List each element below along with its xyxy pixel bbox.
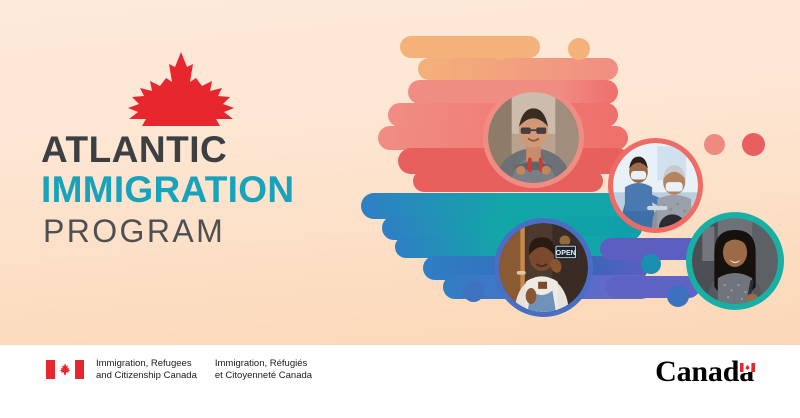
svg-text:OPEN: OPEN xyxy=(556,249,576,257)
ircc-english-line1: Immigration, Refugees xyxy=(96,358,192,369)
logo-line-immigration: IMMIGRATION xyxy=(41,170,338,210)
photo-healthcare-worker-image xyxy=(613,143,698,228)
canada-wordmark-text: Canad xyxy=(655,355,739,388)
photo-healthcare-worker xyxy=(608,138,703,233)
photo-shop-owner: OPEN xyxy=(494,218,593,317)
ircc-english-line2: and Citizenship Canada xyxy=(96,370,197,381)
ircc-label-french: Immigration, Réfugiés et Citoyenneté Can… xyxy=(215,358,312,381)
ircc-french-line1: Immigration, Réfugiés xyxy=(215,358,307,369)
canada-flag-icon xyxy=(46,360,84,379)
photo-student xyxy=(686,212,784,310)
canada-flag-icon xyxy=(740,348,755,357)
salmon-dot-1 xyxy=(704,134,725,155)
photo-student-image xyxy=(692,218,778,304)
photo-tradesman-image xyxy=(488,92,579,183)
blue-dot-2 xyxy=(667,285,689,307)
teal-dot-1 xyxy=(641,254,661,274)
orange-dot-2 xyxy=(568,38,590,60)
program-logo-lockup: ATLANTIC IMMIGRATION PROGRAM xyxy=(38,50,338,250)
ircc-label-english: Immigration, Refugees and Citizenship Ca… xyxy=(96,358,197,381)
photo-tradesman xyxy=(483,87,584,188)
orange-dot-1 xyxy=(489,38,511,60)
peach-bar-2 xyxy=(418,58,618,80)
hero-area: OPEN xyxy=(0,0,800,345)
logo-line-program: PROGRAM xyxy=(43,212,338,250)
blue-dot-1 xyxy=(463,281,484,302)
maple-leaf-icon xyxy=(38,50,338,130)
logo-line-atlantic: ATLANTIC xyxy=(41,130,338,170)
ircc-french-line2: et Citoyenneté Canada xyxy=(215,370,312,381)
canada-wordmark: Canada xyxy=(655,357,754,387)
promotional-banner: OPEN xyxy=(0,0,800,418)
red-dot-1 xyxy=(742,133,765,156)
photo-shop-owner-image: OPEN xyxy=(499,223,588,312)
ircc-signature: Immigration, Refugees and Citizenship Ca… xyxy=(46,358,312,381)
peach-bar-1 xyxy=(400,36,540,58)
